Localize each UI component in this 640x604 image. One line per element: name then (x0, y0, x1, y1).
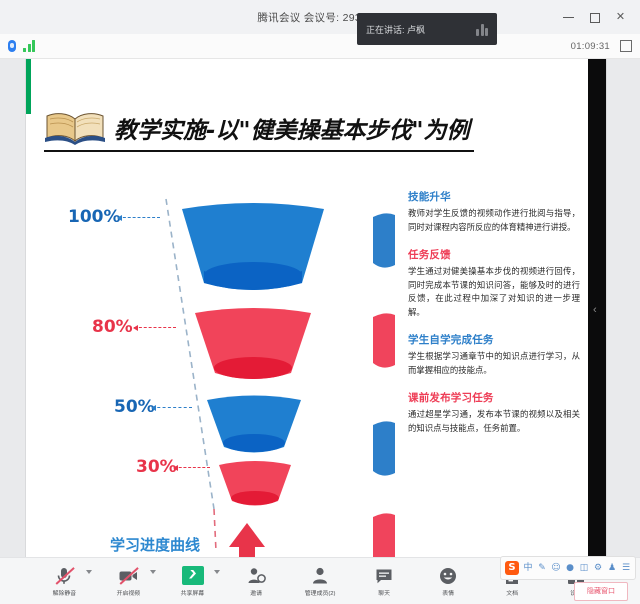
funnel-diagram: 100% 80% 50% 30% (66, 179, 366, 557)
share-screen-icon[interactable] (182, 566, 202, 586)
tab-marker-3 (371, 419, 397, 479)
toolbar-label-mute: 解除静音 (52, 588, 76, 597)
maximize-button[interactable] (588, 11, 601, 24)
funnel-segment-1 (178, 197, 328, 302)
minimize-button[interactable] (562, 11, 575, 24)
text-block-2-body: 学生通过对健美操基本步伐的视频进行回传，同时完成本节课的知识问答，能够及时的进行… (408, 265, 580, 320)
microphone-muted-icon[interactable] (54, 566, 74, 586)
percent-label-50: 50% (114, 397, 155, 417)
toolbar-item-invite[interactable]: 邀请 (235, 566, 277, 597)
text-block-1-body: 教师对学生反馈的视频动作进行批阅与指导，同时对课程内容所反应的体育精神进行讲授。 (408, 207, 580, 235)
text-block-2: 任务反馈 学生通过对健美操基本步伐的视频进行回传，同时完成本节课的知识问答，能够… (408, 247, 580, 320)
invite-person-icon[interactable] (246, 566, 266, 586)
toolbar-item-emoji[interactable]: 表情 (427, 566, 469, 597)
percent-arrow-80 (134, 327, 176, 329)
upward-arrow-icon (226, 521, 268, 557)
toolbar-item-share[interactable]: 共享屏幕 (171, 566, 213, 597)
percent-arrow-50 (152, 407, 192, 409)
ime-tooltip: 隐藏窗口 (574, 582, 628, 601)
percent-arrow-30 (174, 467, 210, 469)
percent-label-30: 30% (136, 457, 177, 477)
ime-user-icon[interactable]: ♟ (607, 562, 617, 574)
tab-marker-1 (371, 211, 397, 271)
chevron-up-icon-video[interactable] (150, 570, 156, 574)
presentation-slide: 教学实施-以"健美操基本步伐"为例 100% 80% 50% 30% (26, 59, 606, 557)
progress-curve-label: 学习进度曲线 (110, 534, 200, 555)
slide-title-row: 教学实施-以"健美操基本步伐"为例 (44, 111, 470, 145)
meeting-status-bar: 01:09:31 (0, 34, 640, 59)
open-book-icon (44, 111, 106, 145)
close-button[interactable]: ✕ (614, 11, 627, 24)
toolbar-label-emoji: 表情 (442, 588, 454, 597)
percent-arrow-100 (118, 217, 160, 219)
ime-emoji-icon[interactable]: ☺ (551, 562, 561, 574)
manage-members-icon[interactable] (310, 566, 330, 586)
status-left-group (8, 40, 35, 52)
slide-accent-bar (26, 59, 31, 114)
shared-screen-stage: 教学实施-以"健美操基本步伐"为例 100% 80% 50% 30% (0, 59, 640, 557)
toolbar-item-chat[interactable]: 聊天 (363, 566, 405, 597)
slide-title: 教学实施-以"健美操基本步伐"为例 (114, 111, 470, 145)
emoji-smiley-icon[interactable] (438, 566, 458, 586)
funnel-segment-2 (192, 303, 314, 391)
funnel-segment-4 (216, 457, 294, 515)
toolbar-label-share: 共享屏幕 (180, 588, 204, 597)
microphone-status-icon[interactable] (8, 40, 16, 52)
camera-off-icon[interactable] (118, 566, 138, 586)
meeting-timer: 01:09:31 (571, 41, 610, 52)
chevron-up-icon-mute[interactable] (86, 570, 92, 574)
ime-pen-icon[interactable]: ✎ (537, 562, 547, 574)
fullscreen-expand-icon[interactable] (620, 40, 632, 52)
percent-label-100: 100% (68, 207, 121, 227)
text-block-3-body: 学生根据学习通章节中的知识点进行学习，从而掌握相应的技能点。 (408, 350, 580, 378)
text-block-3: 学生自学完成任务 学生根据学习通章节中的知识点进行学习，从而掌握相应的技能点。 (408, 332, 580, 378)
network-signal-icon[interactable] (23, 40, 35, 52)
tab-marker-4 (371, 511, 397, 557)
title-underline (44, 150, 474, 152)
title-bar: 腾讯会议 会议号: 293 844 ✕ (0, 0, 640, 34)
text-block-1-heading: 技能升华 (408, 189, 580, 204)
slide-text-column: 技能升华 教师对学生反馈的视频动作进行批阅与指导，同时对课程内容所反应的体育精神… (408, 189, 580, 448)
text-block-3-heading: 学生自学完成任务 (408, 332, 580, 347)
percent-label-80: 80% (92, 317, 133, 337)
speaking-indicator-toast: 正在讲话: 卢枫 (357, 13, 497, 45)
window-controls: ✕ (562, 11, 640, 24)
toolbar-label-invite: 邀请 (250, 588, 262, 597)
toolbar-label-members: 管理成员(2) (305, 588, 336, 597)
ime-tool-icon[interactable]: ⚙ (593, 562, 603, 574)
text-block-4-body: 通过超星学习通，发布本节课的视频以及相关的知识点与技能点，任务前置。 (408, 408, 580, 436)
ime-chinese-icon[interactable]: 中 (523, 562, 533, 574)
chevron-up-icon-share[interactable] (214, 570, 220, 574)
side-panel-collapsed[interactable]: ‹ (588, 59, 606, 557)
tab-marker-2 (371, 311, 397, 371)
speaking-wave-icon (476, 23, 488, 36)
window-title: 腾讯会议 会议号: 293 844 (0, 10, 640, 25)
status-right-group: 01:09:31 (571, 40, 632, 52)
toolbar-item-members[interactable]: 管理成员(2) (299, 566, 341, 597)
toolbar-item-video[interactable]: 开启视频 (107, 566, 149, 597)
ime-keyboard-icon[interactable]: ◫ (579, 562, 589, 574)
sogou-logo-icon[interactable]: S (505, 561, 519, 575)
toolbar-label-video: 开启视频 (116, 588, 140, 597)
sogou-ime-bar[interactable]: S 中 ✎ ☺ ● ◫ ⚙ ♟ ☰ (500, 556, 636, 580)
ime-more-icon[interactable]: ☰ (621, 562, 631, 574)
tencent-meeting-window: 腾讯会议 会议号: 293 844 ✕ 正在讲话: 卢枫 01:09:31 (0, 0, 640, 604)
text-block-1: 技能升华 教师对学生反馈的视频动作进行批阅与指导，同时对课程内容所反应的体育精神… (408, 189, 580, 235)
chevron-left-icon[interactable]: ‹ (593, 304, 597, 316)
text-block-4-heading: 课前发布学习任务 (408, 390, 580, 405)
funnel-segment-3 (204, 391, 304, 463)
text-block-4: 课前发布学习任务 通过超星学习通，发布本节课的视频以及相关的知识点与技能点，任务… (408, 390, 580, 436)
toolbar-item-mute[interactable]: 解除静音 (43, 566, 85, 597)
ime-voice-icon[interactable]: ● (565, 562, 575, 574)
meeting-toolbar: 解除静音 开启视频 共享屏幕 (0, 557, 640, 604)
toolbar-label-document: 文档 (506, 588, 518, 597)
toolbar-label-chat: 聊天 (378, 588, 390, 597)
chat-bubble-icon[interactable] (374, 566, 394, 586)
text-block-2-heading: 任务反馈 (408, 247, 580, 262)
speaking-label: 正在讲话: 卢枫 (366, 23, 425, 36)
